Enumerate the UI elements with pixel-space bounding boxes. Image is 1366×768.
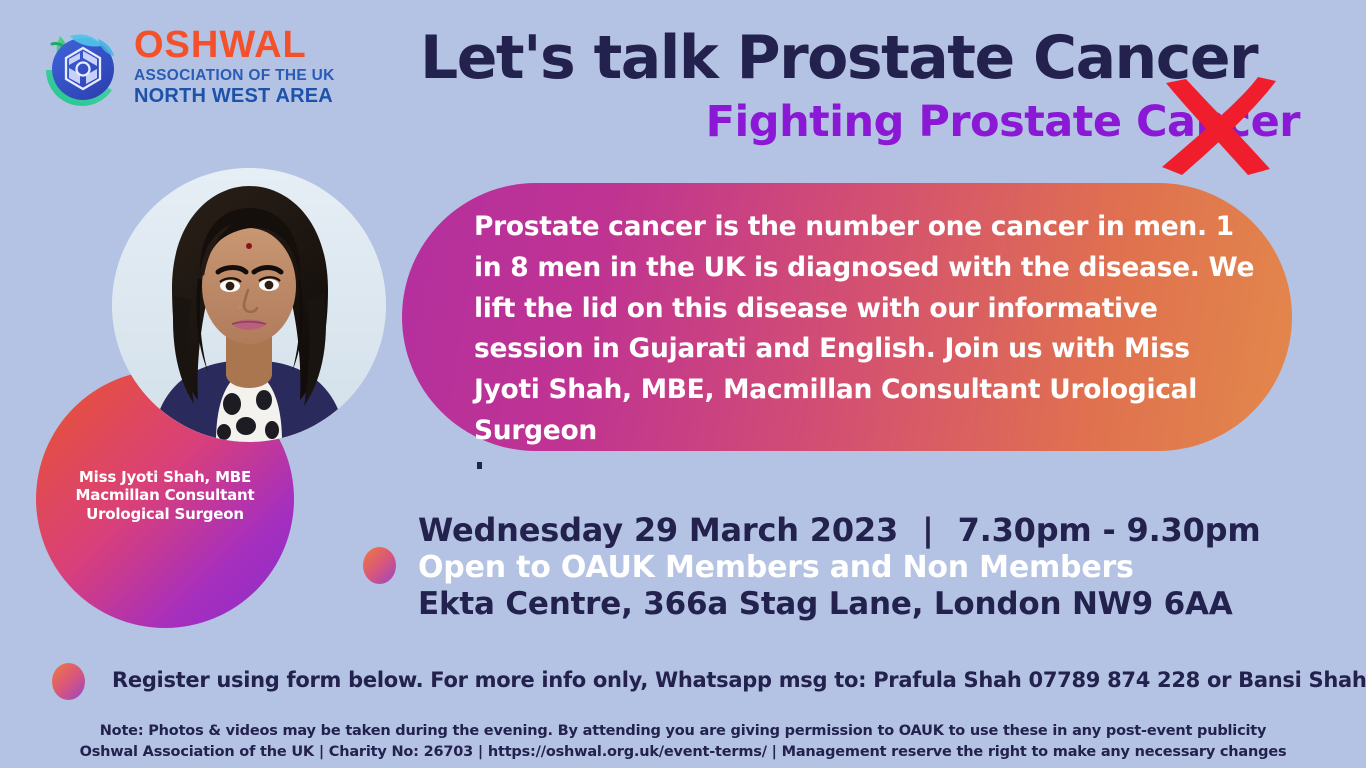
event-date: Wednesday 29 March 2023 bbox=[418, 511, 898, 549]
page-title: Let's talk Prostate Cancer bbox=[420, 28, 1300, 89]
footer-line-2: Oshwal Association of the UK | Charity N… bbox=[0, 742, 1366, 763]
description-text: Prostate cancer is the number one cancer… bbox=[474, 207, 1256, 452]
event-separator: | bbox=[898, 511, 958, 550]
footer-disclaimer: Note: Photos & videos may be taken durin… bbox=[0, 721, 1366, 762]
logo-area-text: NORTH WEST AREA bbox=[134, 85, 356, 107]
event-time: 7.30pm - 9.30pm bbox=[958, 511, 1261, 549]
speaker-photo bbox=[112, 168, 386, 442]
event-details: Wednesday 29 March 2023|7.30pm - 9.30pm … bbox=[418, 511, 1318, 623]
speaker-role-line1: Macmillan Consultant bbox=[36, 486, 294, 504]
speaker-caption: Miss Jyoti Shah, MBE Macmillan Consultan… bbox=[36, 468, 294, 523]
subtitle-row: Fighting Prostate Cancer bbox=[420, 100, 1300, 162]
oshwal-emblem-icon bbox=[36, 22, 128, 114]
logo-brand-text: OSHWAL bbox=[134, 26, 356, 64]
date-bullet-icon bbox=[363, 547, 396, 584]
oshwal-logo: OSHWAL ASSOCIATION OF THE UK NORTH WEST … bbox=[36, 22, 356, 118]
page-subtitle: Fighting Prostate Cancer bbox=[706, 100, 1300, 145]
speaker-role-line2: Urological Surgeon bbox=[36, 505, 294, 523]
speaker-name: Miss Jyoti Shah, MBE bbox=[36, 468, 294, 486]
event-poster: OSHWAL ASSOCIATION OF THE UK NORTH WEST … bbox=[0, 0, 1366, 768]
footer-line-1: Note: Photos & videos may be taken durin… bbox=[0, 721, 1366, 742]
event-date-time-row: Wednesday 29 March 2023|7.30pm - 9.30pm bbox=[418, 511, 1318, 550]
decorative-dot bbox=[477, 462, 482, 469]
logo-association-text: ASSOCIATION OF THE UK bbox=[134, 67, 356, 85]
register-text: Register using form below. For more info… bbox=[112, 668, 1342, 692]
event-venue: Ekta Centre, 366a Stag Lane, London NW9 … bbox=[418, 586, 1318, 623]
register-bullet-icon bbox=[52, 663, 85, 700]
event-audience: Open to OAUK Members and Non Members bbox=[418, 550, 1318, 586]
